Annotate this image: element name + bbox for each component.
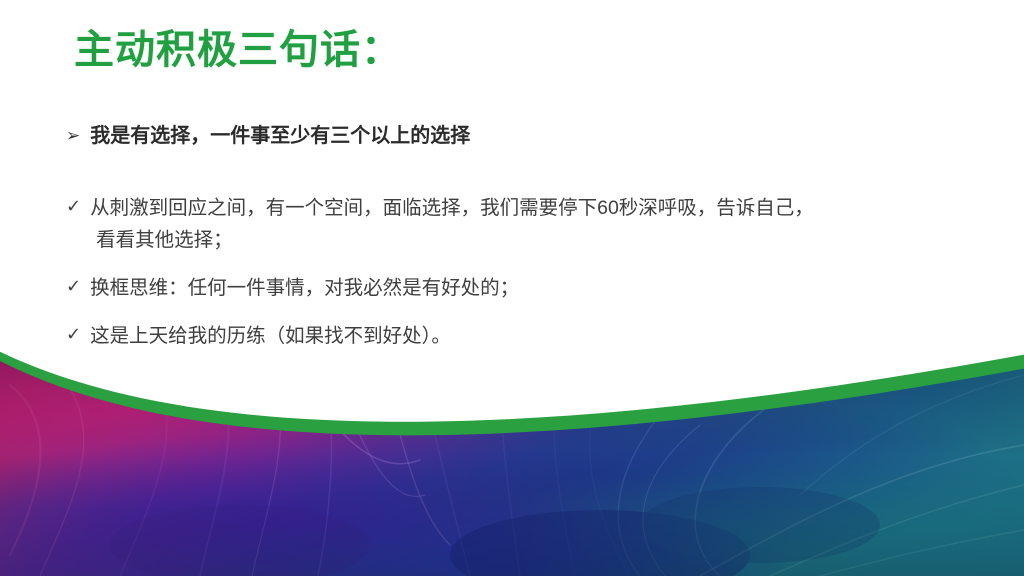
sub-bullet-line-1: 换框思维：任何一件事情，对我必然是有好处的； <box>90 277 519 299</box>
main-bullet-text: 我是有选择，一件事至少有三个以上的选择 <box>90 119 470 148</box>
sub-bullet-text: 从刺激到回应之间，有一个空间，面临选择，我们需要停下60秒深呼吸，告诉自己， 看… <box>90 192 814 256</box>
sub-bullet-line-2: 看看其他选择； <box>90 224 814 256</box>
slide-content: 主动积极三句话： ➢ 我是有选择，一件事至少有三个以上的选择 ✓ 从刺激到回应之… <box>0 0 1024 360</box>
page-title: 主动积极三句话： <box>74 28 402 72</box>
bottom-decoration-artwork <box>0 355 1024 576</box>
check-bullet-icon: ✓ <box>66 192 81 222</box>
check-bullet-icon: ✓ <box>66 272 81 302</box>
sub-bullet-item: ✓ 这是上天给我的历练（如果找不到好处）。 <box>66 320 451 352</box>
sub-bullet-item: ✓ 换框思维：任何一件事情，对我必然是有好处的； <box>66 272 519 304</box>
arrowhead-bullet-icon: ➢ <box>66 126 80 146</box>
main-bullet-item: ➢ 我是有选择，一件事至少有三个以上的选择 <box>66 119 470 148</box>
slide-canvas: 主动积极三句话： ➢ 我是有选择，一件事至少有三个以上的选择 ✓ 从刺激到回应之… <box>0 0 1024 576</box>
sub-bullet-line-1: 从刺激到回应之间，有一个空间，面临选择，我们需要停下60秒深呼吸，告诉自己， <box>90 197 814 219</box>
sub-bullet-item: ✓ 从刺激到回应之间，有一个空间，面临选择，我们需要停下60秒深呼吸，告诉自己，… <box>66 192 814 256</box>
check-bullet-icon: ✓ <box>66 320 81 350</box>
sub-bullet-text: 这是上天给我的历练（如果找不到好处）。 <box>90 320 451 352</box>
sub-bullet-line-1: 这是上天给我的历练（如果找不到好处）。 <box>90 325 451 347</box>
sub-bullet-text: 换框思维：任何一件事情，对我必然是有好处的； <box>90 272 519 304</box>
